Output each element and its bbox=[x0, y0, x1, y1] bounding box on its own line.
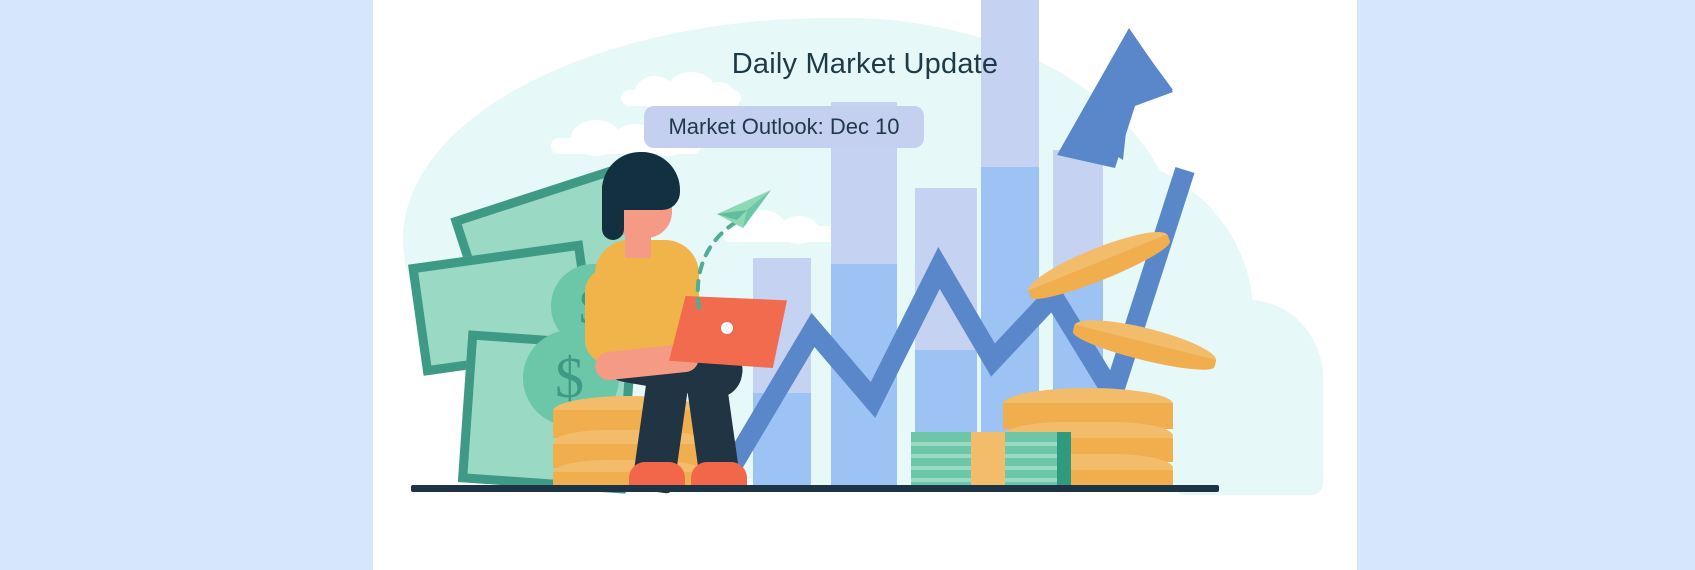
left-side-band bbox=[0, 0, 373, 570]
right-side-band bbox=[1357, 0, 1695, 570]
screenshot-stage: $ $ bbox=[0, 0, 1695, 570]
illustration-canvas: $ $ bbox=[373, 0, 1357, 570]
ground-baseline bbox=[411, 485, 1219, 492]
page-title: Daily Market Update bbox=[373, 48, 1357, 81]
market-outlook-badge[interactable]: Market Outlook: Dec 10 bbox=[644, 106, 924, 148]
laptop-logo-dot bbox=[721, 322, 733, 334]
paper-plane-icon bbox=[713, 188, 775, 234]
cash-bundle bbox=[911, 432, 1071, 490]
person-hair-side bbox=[602, 178, 624, 240]
